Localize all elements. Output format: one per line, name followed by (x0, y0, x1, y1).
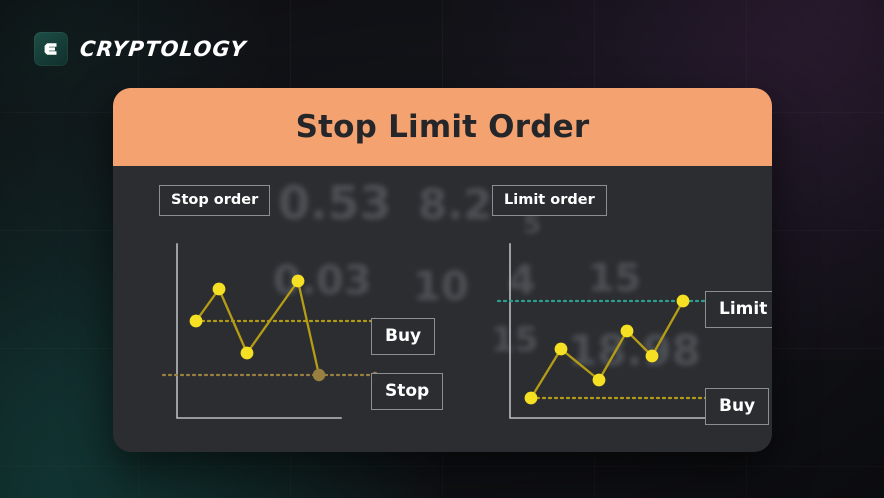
data-point (555, 343, 568, 356)
stop-limit-order-card: 0.538.20.031041518.98515 Stop Limit Orde… (113, 88, 772, 452)
card-body: Stop order Buy Stop Limit order Limit Bu… (113, 166, 772, 452)
cryptology-c-logo-icon (34, 32, 68, 66)
data-point (313, 369, 325, 381)
panel-limit-order: Limit order Limit Buy (478, 166, 772, 452)
data-point (241, 347, 254, 360)
brand-logo[interactable]: CRYPTOLOGY (34, 32, 247, 66)
page-title: Stop Limit Order (296, 109, 590, 145)
data-point (213, 283, 226, 296)
panel-stop-order: Stop order Buy Stop (145, 166, 445, 452)
data-point (646, 350, 659, 363)
data-point (621, 325, 634, 338)
series-line-price (531, 301, 683, 398)
chart-axis (177, 244, 341, 418)
card-header: Stop Limit Order (113, 88, 772, 166)
tag-limit: Limit (705, 291, 772, 328)
tag-stop-left: Stop (371, 373, 443, 410)
data-point (593, 374, 606, 387)
data-point (190, 315, 203, 328)
data-point (525, 392, 538, 405)
series-line-price (196, 281, 319, 375)
data-point (677, 295, 690, 308)
data-point (292, 275, 305, 288)
tag-buy-right: Buy (705, 388, 769, 425)
tag-buy-left: Buy (371, 318, 435, 355)
brand-name: CRYPTOLOGY (79, 37, 248, 61)
